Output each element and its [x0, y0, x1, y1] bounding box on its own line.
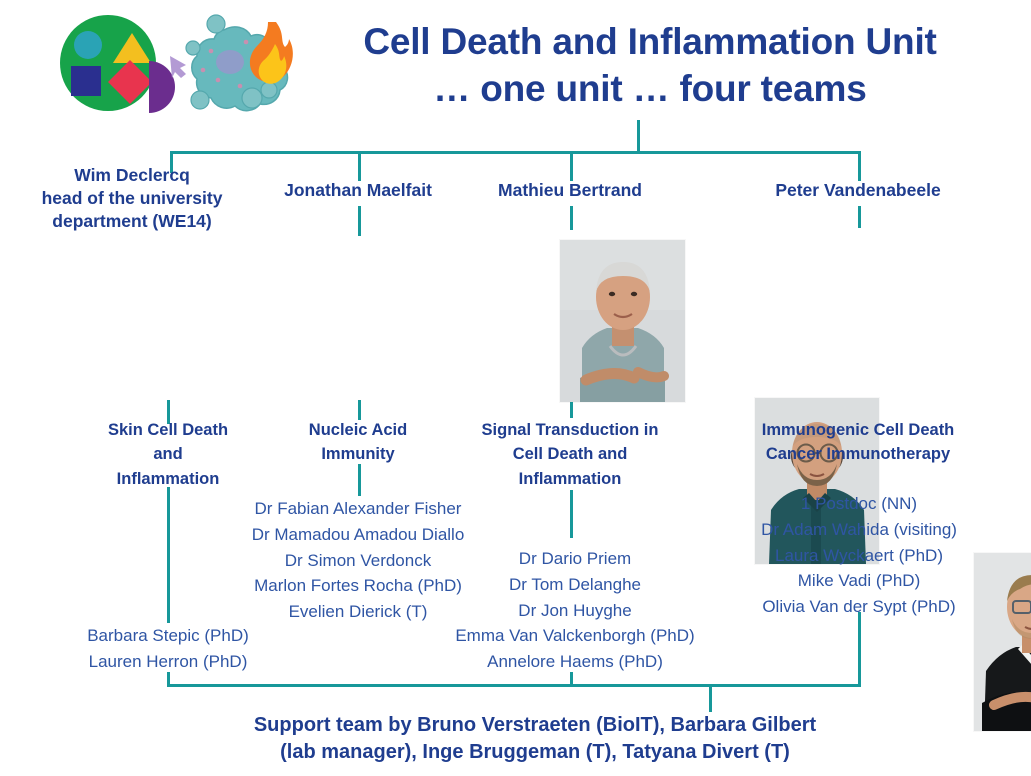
connector-col4-a	[858, 151, 861, 181]
connector-col1-c	[167, 487, 170, 623]
team-leader-name: Mathieu Bertrand	[460, 179, 680, 202]
title-line-1: Cell Death and Inflammation Unit	[363, 21, 936, 62]
team-leader-name: Peter Vandenabeele	[748, 179, 968, 202]
portrait-wim-declercq	[560, 240, 685, 402]
connector-top-bus	[170, 151, 860, 154]
team-group-title: Nucleic Acid Immunity	[248, 418, 468, 467]
connector-col3-d	[570, 490, 573, 538]
team-group-title: Signal Transduction in Cell Death and In…	[460, 418, 680, 491]
team-member-list: Barbara Stepic (PhD) Lauren Herron (PhD)	[44, 623, 292, 675]
team-leader-name: Jonathan Maelfait	[248, 179, 468, 202]
connector-support-stem	[709, 684, 712, 712]
page-title: Cell Death and Inflammation Unit … one u…	[300, 18, 1000, 113]
connector-col3-c	[570, 400, 573, 418]
team-member-list: 1 Postdoc (NN) Dr Adam Wahida (visiting)…	[728, 491, 990, 620]
title-line-2: … one unit … four teams	[300, 65, 1000, 112]
team-leader-name: Wim Declercq head of the university depa…	[14, 164, 250, 232]
connector-col4-b	[858, 206, 861, 228]
team-group-3: Signal Transduction in Cell Death and In…	[460, 418, 680, 491]
team-column-2: Jonathan Maelfait	[248, 179, 468, 202]
support-team-text: Support team by Bruno Verstraeten (BioIT…	[190, 712, 880, 766]
team-group-4: Immunogenic Cell Death Cancer Immunother…	[728, 418, 988, 467]
connector-col3-a	[570, 151, 573, 181]
team-group-2: Nucleic Acid Immunity	[248, 418, 468, 467]
cell-death-inflammation-unit-logo	[48, 8, 293, 118]
team-column-1: Wim Declercq head of the university depa…	[14, 164, 250, 232]
connector-title-stem	[637, 120, 640, 153]
team-members-1: Barbara Stepic (PhD) Lauren Herron (PhD)	[44, 623, 292, 675]
connector-col2-c	[358, 400, 361, 420]
connector-col4-e	[858, 612, 861, 686]
team-column-4: Peter Vandenabeele	[748, 179, 968, 202]
connector-col2-b	[358, 206, 361, 236]
connector-col2-a	[358, 151, 361, 181]
team-member-list: Dr Dario Priem Dr Tom Delanghe Dr Jon Hu…	[440, 546, 710, 675]
team-members-4: 1 Postdoc (NN) Dr Adam Wahida (visiting)…	[728, 491, 990, 620]
team-members-3: Dr Dario Priem Dr Tom Delanghe Dr Jon Hu…	[440, 546, 710, 675]
team-column-3: Mathieu Bertrand	[460, 179, 680, 202]
org-chart-slide: Cell Death and Inflammation Unit … one u…	[0, 0, 1031, 776]
connector-bottom-bus	[167, 684, 861, 687]
connector-col2-d	[358, 464, 361, 496]
team-group-title: Immunogenic Cell Death Cancer Immunother…	[728, 418, 988, 467]
connector-col3-b	[570, 206, 573, 230]
